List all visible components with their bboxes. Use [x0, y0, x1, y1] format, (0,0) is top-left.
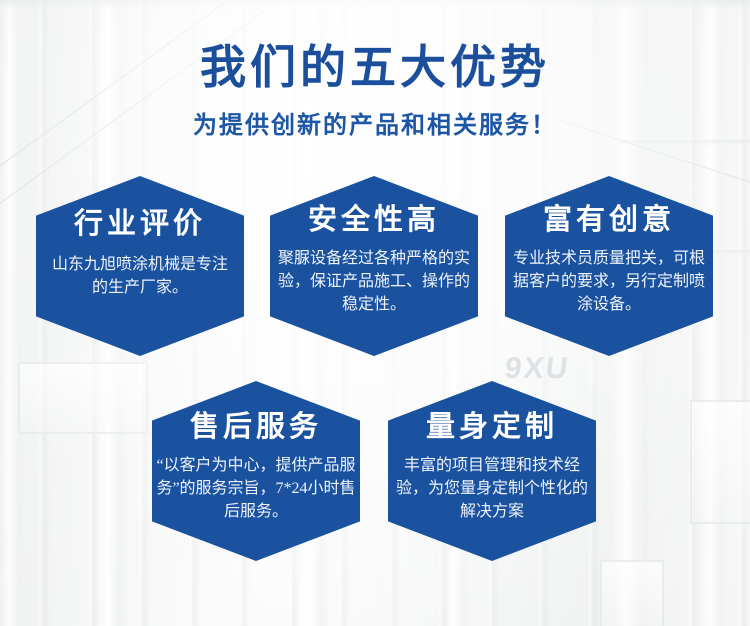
advantage-title: 富有创意 [543, 176, 675, 235]
advantage-title: 行业评价 [74, 176, 206, 239]
header: 我们的五大优势 为提供创新的产品和相关服务！ [0, 42, 750, 140]
advantage-body: “以客户为中心，提供产品服务”的服务宗旨，7*24小时售后服务。 [156, 442, 356, 524]
advantage-body: 聚脲设备经过各种严格的实验，保证产品施工、操作的稳定性。 [274, 235, 474, 317]
background-window [690, 400, 750, 524]
page-subtitle: 为提供创新的产品和相关服务！ [0, 105, 750, 140]
background-beam [0, 0, 750, 10]
advantage-body: 山东九旭喷涂机械是专注的生产厂家。 [47, 239, 233, 299]
background-watermark: 9XU [503, 352, 571, 386]
page-title: 我们的五大优势 [0, 42, 750, 95]
advantage-hexagon-custom-tailored[interactable]: 量身定制 丰富的项目管理和技术经验，为您量身定制个性化的解决方案 [388, 381, 596, 561]
background-window [18, 362, 148, 434]
advantage-body: 丰富的项目管理和技术经验，为您量身定制个性化的解决方案 [393, 442, 591, 524]
background-window [600, 560, 664, 626]
promo-banner: 9XU 我们的五大优势 为提供创新的产品和相关服务！ 行业评价 山东九旭喷涂机械… [0, 0, 750, 626]
advantage-hexagon-industry-reputation[interactable]: 行业评价 山东九旭喷涂机械是专注的生产厂家。 [36, 176, 244, 356]
advantage-body: 专业技术员质量把关，可根据客户的要求，另行定制喷涂设备。 [509, 235, 709, 317]
advantage-hexagon-creativity[interactable]: 富有创意 专业技术员质量把关，可根据客户的要求，另行定制喷涂设备。 [505, 176, 713, 356]
